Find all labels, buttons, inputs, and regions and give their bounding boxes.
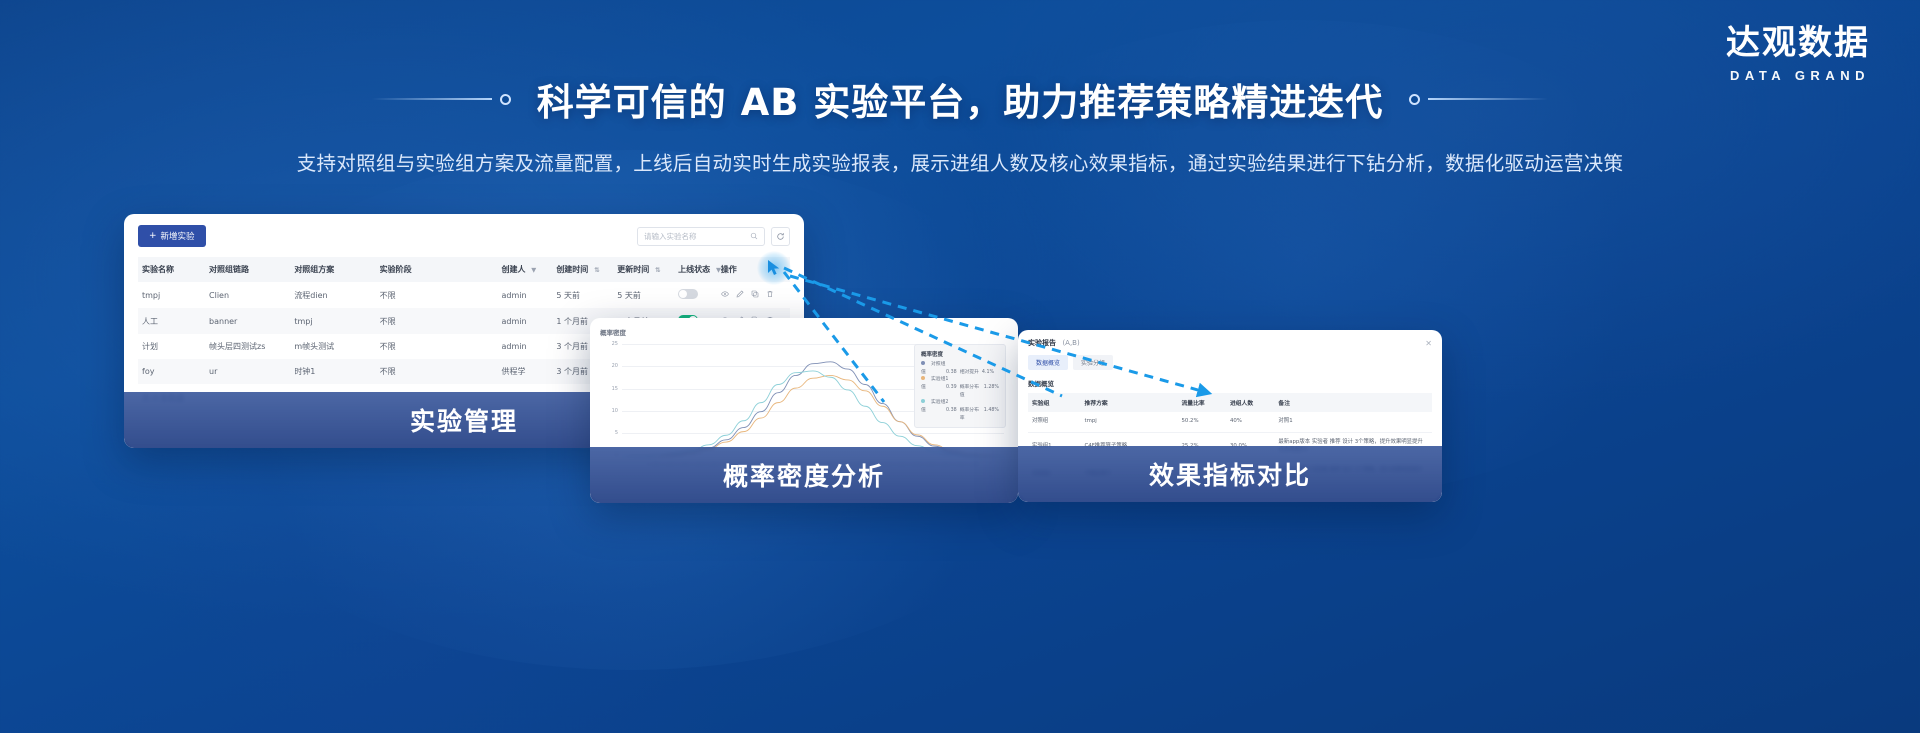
col-created-time[interactable]: 创建时间 ⇅	[552, 257, 613, 282]
tooltip-row: 实验组1	[921, 376, 999, 384]
tab-experiment-groups[interactable]: 实验分组	[1073, 355, 1113, 370]
refresh-button[interactable]	[771, 227, 790, 246]
tooltip-metric: 概率分布值	[960, 384, 981, 399]
delete-icon[interactable]	[766, 290, 774, 298]
panel-metrics-comparison: 实验报告 (A,B) ✕ 数据概览 实验分组 数据概览 实验组 推荐方案 流量比…	[1018, 330, 1442, 502]
y-tick: 10	[612, 408, 618, 414]
y-tick: 5	[615, 430, 618, 436]
metrics-header: 实验报告 (A,B) ✕	[1028, 338, 1432, 348]
cell-online	[674, 282, 717, 308]
new-experiment-label: 新增实验	[161, 230, 195, 242]
cell-group: 对照组	[1028, 412, 1081, 432]
y-tick: 20	[612, 363, 618, 369]
cell-name: foy	[138, 359, 205, 384]
metrics-section-title: 数据概览	[1028, 378, 1432, 388]
table-row[interactable]: tmpj Clien 流程dien 不限 admin 5 天前 5 天前	[138, 282, 790, 308]
col-control-plan[interactable]: 对照组方案	[290, 257, 375, 282]
sort-icon[interactable]: ⇅	[594, 266, 599, 274]
tab-data-overview[interactable]: 数据概览	[1028, 355, 1068, 370]
cell-name: 计划	[138, 334, 205, 359]
col-creator[interactable]: 创建人 ▼	[497, 257, 552, 282]
panel-probability-density: 概率密度 25 20 15 10 5 0 0.330 0.335 0.340 0…	[590, 318, 1018, 503]
caption-metrics-comparison: 效果指标对比	[1018, 446, 1442, 502]
cell-stage: 不限	[376, 282, 498, 308]
cell-link: ur	[205, 359, 290, 384]
density-chart-title: 概率密度	[600, 327, 1008, 337]
tooltip-row: 实验组2	[921, 399, 999, 407]
cell-plan: tmpj	[290, 308, 375, 334]
legend-dot	[921, 376, 925, 380]
sort-icon[interactable]: ⇅	[655, 266, 660, 274]
tooltip-value: 0.39	[946, 384, 957, 399]
headline-decoration-left	[372, 94, 511, 105]
col-ratio: 流量比率	[1177, 393, 1225, 412]
tooltip-label: 值	[921, 407, 943, 422]
tooltip-value: 0.38	[946, 407, 957, 422]
density-tooltip: 概率密度 对照组 值 0.38 相对提升 4.1% 实验组1 值 0.39 概率…	[914, 344, 1006, 428]
tooltip-row: 对照组	[921, 361, 999, 369]
tooltip-row-values: 值 0.38 概率分布率 1.48%	[921, 407, 999, 422]
refresh-icon	[776, 232, 785, 241]
cell-creator: admin	[497, 282, 552, 308]
search-input[interactable]: 请输入实验名称	[644, 231, 750, 242]
cell-creator: admin	[497, 334, 552, 359]
deco-bar-left	[372, 98, 492, 100]
cell-stage: 不限	[376, 308, 498, 334]
cell-name: 人工	[138, 308, 205, 334]
col-group: 实验组	[1028, 393, 1081, 412]
table-row[interactable]: 对照组 tmpj 50.2% 40% 对照1	[1028, 412, 1432, 432]
tooltip-value: 0.38	[946, 369, 957, 377]
col-plan: 推荐方案	[1081, 393, 1178, 412]
metrics-title-main: 实验报告	[1028, 339, 1056, 347]
y-tick: 25	[612, 341, 618, 347]
tooltip-metric: 概率分布率	[960, 407, 981, 422]
row-action-group	[721, 290, 774, 298]
filter-icon[interactable]: ▼	[531, 266, 536, 274]
cell-stage: 不限	[376, 359, 498, 384]
experiment-toolbar-right: 请输入实验名称	[637, 227, 790, 246]
tooltip-row-values: 值 0.39 概率分布值 1.28%	[921, 384, 999, 399]
cell-link: Clien	[205, 282, 290, 308]
cell-link: 帧头层四测试zs	[205, 334, 290, 359]
online-toggle[interactable]	[678, 289, 698, 299]
page-title: 科学可信的 AB 实验平台，助力推荐策略精进迭代	[537, 72, 1384, 126]
cell-creator: 供程学	[497, 359, 552, 384]
cell-actions	[717, 282, 790, 308]
col-creator-label: 创建人	[501, 265, 525, 274]
deco-dot-left	[500, 94, 511, 105]
view-icon[interactable]	[721, 290, 729, 298]
col-online-label: 上线状态	[678, 265, 710, 274]
brand-logo-cn: 达观数据	[1726, 26, 1870, 62]
cell-created: 5 天前	[552, 282, 613, 308]
legend-dot	[921, 399, 925, 403]
page-subtitle: 支持对照组与实验组方案及流量配置，上线后自动实时生成实验报表，展示进组人数及核心…	[250, 148, 1670, 181]
caption-probability-density: 概率密度分析	[590, 447, 1018, 503]
tooltip-series: 实验组1	[931, 376, 948, 384]
copy-icon[interactable]	[751, 290, 759, 298]
experiment-toolbar: + 新增实验 请输入实验名称	[138, 225, 790, 247]
cell-stage: 不限	[376, 334, 498, 359]
col-control-link[interactable]: 对照组链路	[205, 257, 290, 282]
tooltip-series: 对照组	[931, 361, 945, 369]
cell-users: 40%	[1226, 412, 1274, 432]
legend-dot	[921, 361, 925, 365]
metrics-title-sub: (A,B)	[1062, 339, 1079, 347]
cell-link: banner	[205, 308, 290, 334]
col-created-label: 创建时间	[556, 265, 588, 274]
experiment-search-box[interactable]: 请输入实验名称	[637, 227, 765, 246]
cell-plan: m帧头测试	[290, 334, 375, 359]
edit-icon[interactable]	[736, 290, 744, 298]
headline-row: 科学可信的 AB 实验平台，助力推荐策略精进迭代	[0, 72, 1920, 126]
tooltip-metric: 相对提升	[960, 369, 979, 377]
col-updated-time[interactable]: 更新时间 ⇅	[613, 257, 674, 282]
y-axis-ticks: 25 20 15 10 5 0	[600, 339, 620, 457]
col-experiment-name[interactable]: 实验名称	[138, 257, 205, 282]
tooltip-metric-value: 4.1%	[982, 369, 994, 377]
col-note: 备注	[1274, 393, 1432, 412]
tooltip-row-values: 值 0.38 相对提升 4.1%	[921, 369, 999, 377]
cell-updated: 5 天前	[613, 282, 674, 308]
cell-creator: admin	[497, 308, 552, 334]
headline-decoration-right	[1409, 94, 1548, 105]
experiment-table-header: 实验名称 对照组链路 对照组方案 实验阶段 创建人 ▼ 创建时间 ⇅ 更新时间 …	[138, 257, 790, 282]
y-tick: 15	[612, 386, 618, 392]
tooltip-label: 值	[921, 369, 943, 377]
cell-plan: 流程dien	[290, 282, 375, 308]
tooltip-title: 概率密度	[921, 350, 999, 358]
metrics-table-header: 实验组 推荐方案 流量比率 进组人数 备注	[1028, 393, 1432, 412]
cell-name: tmpj	[138, 282, 205, 308]
cell-ratio: 50.2%	[1177, 412, 1225, 432]
tooltip-metric-value: 1.28%	[984, 384, 999, 399]
col-experiment-stage[interactable]: 实验阶段	[376, 257, 498, 282]
metrics-tabs: 数据概览 实验分组	[1028, 355, 1432, 370]
col-updated-label: 更新时间	[617, 265, 649, 274]
metrics-title: 实验报告 (A,B)	[1028, 338, 1080, 348]
new-experiment-button[interactable]: + 新增实验	[138, 225, 206, 247]
col-actions: 操作	[717, 257, 790, 282]
cell-plan: 时钟1	[290, 359, 375, 384]
plus-icon: +	[149, 232, 157, 241]
search-icon	[750, 232, 758, 240]
col-users: 进组人数	[1226, 393, 1274, 412]
cell-plan: tmpj	[1081, 412, 1178, 432]
deco-bar-right	[1428, 98, 1548, 100]
close-icon[interactable]: ✕	[1425, 339, 1432, 348]
cell-note: 对照1	[1274, 412, 1432, 432]
tooltip-metric-value: 1.48%	[984, 407, 999, 422]
tooltip-label: 值	[921, 384, 943, 399]
deco-dot-right	[1409, 94, 1420, 105]
col-online-status[interactable]: 上线状态 ▼	[674, 257, 717, 282]
tooltip-series: 实验组2	[931, 399, 948, 407]
